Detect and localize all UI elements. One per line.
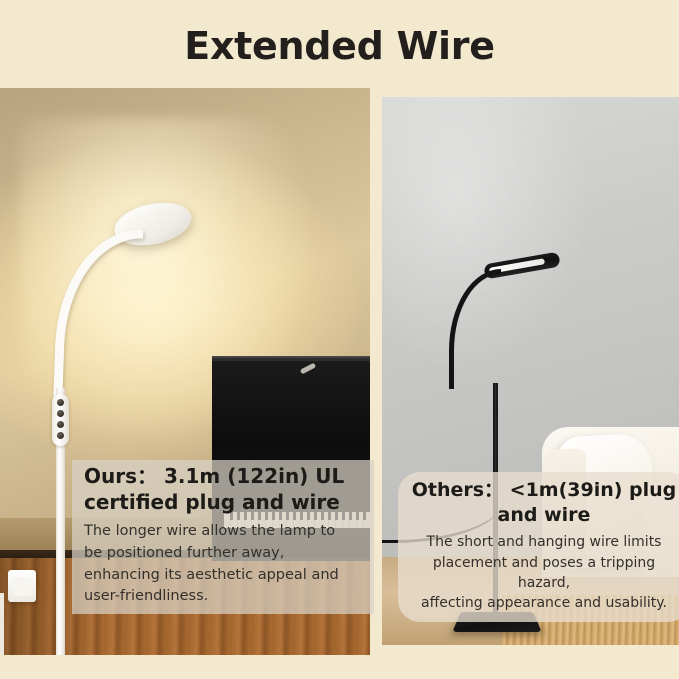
lamp-control-button[interactable] — [57, 432, 64, 439]
others-body-line-3: affecting appearance and usability. — [408, 593, 679, 613]
others-body-line-1: The short and hanging wire limits — [408, 532, 679, 552]
others-body-text: The short and hanging wire limits placem… — [408, 532, 679, 613]
lamp-control-button[interactable] — [57, 421, 64, 428]
others-body-line-2: placement and poses a tripping hazard, — [408, 553, 679, 594]
ours-body-line-1: The longer wire allows the lamp to — [84, 521, 374, 543]
ours-body-line-2: be positioned further away, — [84, 543, 374, 565]
page-title: Extended Wire — [0, 24, 679, 68]
others-heading: Others： <1m(39in) plug and wire — [408, 478, 679, 527]
ours-body-line-4: user-friendliness. — [84, 586, 374, 608]
ours-body-text: The longer wire allows the lamp to be po… — [84, 521, 374, 608]
ours-text-overlay: Ours： 3.1m (122in) UL certified plug and… — [72, 460, 374, 614]
ours-heading: Ours： 3.1m (122in) UL certified plug and… — [84, 464, 374, 515]
comparison-infographic: Extended Wire — [0, 0, 679, 679]
others-heading-line-1: Others： <1m(39in) plug — [408, 478, 679, 503]
ours-heading-line-1: Ours： 3.1m (122in) UL — [84, 464, 374, 490]
ours-body-line-3: enhancing its aesthetic appeal and — [84, 565, 374, 587]
others-text-overlay: Others： <1m(39in) plug and wire The shor… — [398, 472, 679, 622]
lamp-control-button[interactable] — [57, 399, 64, 406]
ours-heading-line-2: certified plug and wire — [84, 490, 374, 516]
others-heading-line-2: and wire — [408, 503, 679, 528]
lamp-control-button[interactable] — [57, 410, 64, 417]
